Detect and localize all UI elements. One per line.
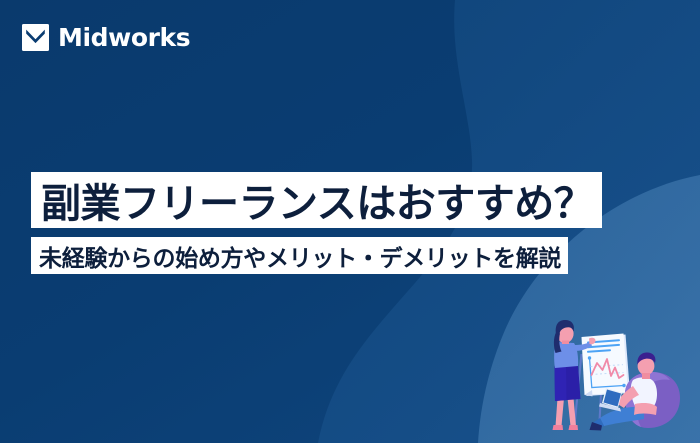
- brand-logo-text: Midworks: [58, 25, 190, 50]
- presentation-scene-illustration: [540, 318, 690, 440]
- headline-title: 副業フリーランスはおすすめ？: [31, 172, 602, 228]
- midworks-envelope-chevron-icon: [22, 24, 49, 51]
- brand-logo[interactable]: Midworks: [22, 24, 190, 51]
- headline-subtitle: 未経験からの始め方やメリット・デメリットを解説: [31, 237, 568, 274]
- hero-banner: Midworks 副業フリーランスはおすすめ？ 未経験からの始め方やメリット・デ…: [0, 0, 700, 443]
